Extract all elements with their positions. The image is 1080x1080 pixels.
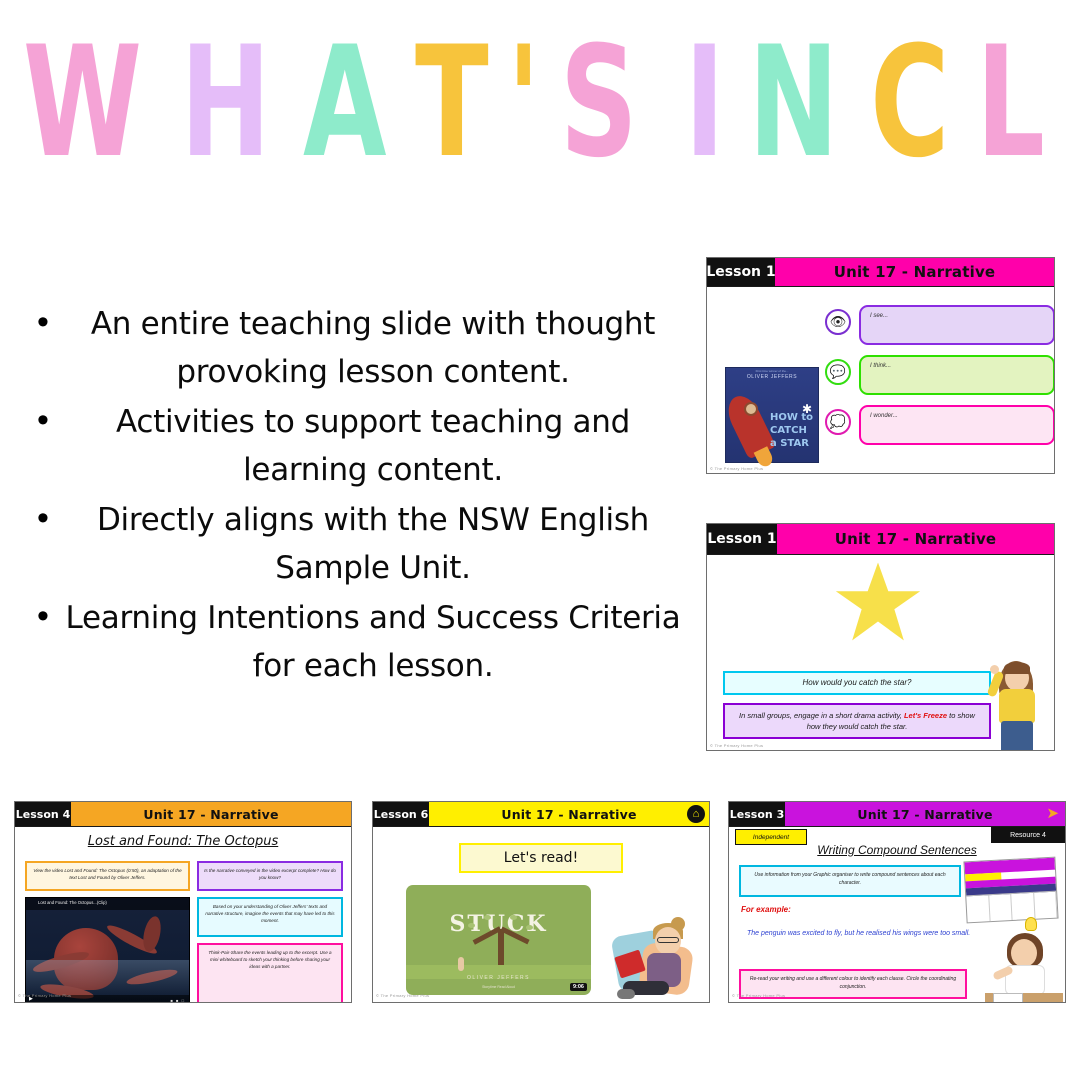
slide-subtitle: Lost and Found: The Octopus: [15, 834, 351, 849]
stuck-subtitle: Storytime Read Aloud: [406, 985, 591, 989]
think-bubble-icon: 💬: [825, 359, 851, 385]
title-letter-11: U: [1073, 27, 1080, 180]
title-letter-4: ': [508, 27, 540, 180]
watermark: © The Primary Home Plus: [18, 993, 71, 998]
question-bubble-icon: 💭: [825, 409, 851, 435]
video-thumbnail-octopus[interactable]: Lost and Found: The Octopus...(Clip) ▶ ■…: [25, 897, 190, 1003]
star-icon: [835, 563, 921, 645]
slide-preview-lesson4-lost-and-found[interactable]: Lesson 4 Unit 17 - Narrative Lost and Fo…: [14, 801, 352, 1003]
slide-header: Lesson 6 Unit 17 - Narrative ⌂: [373, 802, 709, 827]
lesson-tag: Lesson 4: [15, 802, 71, 826]
watermark: © The Primary Home Plus: [732, 993, 785, 998]
title-letter-8: N: [749, 27, 838, 180]
list-item-text: An entire teaching slide with thought pr…: [60, 300, 686, 396]
video-instruction-box[interactable]: View the video Lost and Found: The Octop…: [25, 861, 190, 891]
bullet-dot-icon: •: [26, 594, 60, 638]
list-item-text: Directly aligns with the NSW English Sam…: [60, 496, 686, 592]
avatar-teacher-reading: [611, 915, 697, 1003]
list-item: • Learning Intentions and Success Criter…: [26, 594, 686, 690]
bullet-dot-icon: •: [26, 300, 60, 344]
slide-header-title: Unit 17 - Narrative: [777, 524, 1054, 554]
discussion-box-1[interactable]: Is the narrative conveyed in the video e…: [197, 861, 343, 891]
eye-icon: 👁: [825, 309, 851, 335]
slide-body: First time winner of the... OLIVER JEFFE…: [707, 287, 1054, 473]
video-controls-icon[interactable]: ■ ■ □: [171, 998, 185, 1003]
bullet-dot-icon: •: [26, 496, 60, 540]
list-item-text: Learning Intentions and Success Criteria…: [60, 594, 686, 690]
slide-body: Lost and Found: The Octopus View the vid…: [15, 827, 351, 1000]
kangaroo-icon: ➤: [1046, 804, 1059, 822]
title-letter-3: T: [415, 27, 487, 180]
discussion-box-3[interactable]: Think-Pair-Share the events leading up t…: [197, 943, 343, 1003]
avatar-teacher-waving: [989, 655, 1045, 752]
book-title-line1: HOW to: [770, 412, 813, 423]
slide-header: Lesson 3 Unit 17 - Narrative ➤: [729, 802, 1065, 827]
book-publisher-line: First time winner of the...: [726, 369, 818, 373]
title-letter-0: W: [23, 27, 141, 180]
lets-read-box[interactable]: Let's read!: [459, 843, 623, 873]
title-letter-9: C: [870, 27, 948, 180]
features-list: • An entire teaching slide with thought …: [26, 300, 686, 692]
slide-body: Independent Resource 4 Writing Compound …: [729, 827, 1065, 1000]
prompt-box-i-think[interactable]: I think...: [859, 355, 1055, 395]
lesson-tag: Lesson 1: [707, 258, 775, 286]
discussion-box-2[interactable]: Based on your understanding of Oliver Je…: [197, 897, 343, 937]
avatar-student-writing: [985, 931, 1063, 1003]
lightbulb-icon: [1025, 917, 1037, 931]
watermark: © The Primary Home Plus: [710, 743, 763, 748]
example-label: For example:: [741, 905, 791, 914]
rocket-window-icon: [744, 402, 758, 416]
list-item: • An entire teaching slide with thought …: [26, 300, 686, 396]
book-title-line3: a STAR: [770, 438, 809, 449]
rocket-icon: [722, 391, 776, 460]
watermark: © The Primary Home Plus: [376, 993, 429, 998]
title-letter-7: I: [685, 27, 724, 180]
slide-header-title: Unit 17 - Narrative: [71, 802, 351, 826]
list-item: • Activities to support teaching and lea…: [26, 398, 686, 494]
drama-activity-box[interactable]: In small groups, engage in a short drama…: [723, 703, 991, 739]
bullet-dot-icon: •: [26, 398, 60, 442]
whats-included-page: WHAT'SINCLUDED • An entire teaching slid…: [0, 0, 1080, 1080]
slide-header: Lesson 4 Unit 17 - Narrative: [15, 802, 351, 827]
slide-header-title: Unit 17 - Narrative: [785, 802, 1065, 826]
lesson-tag: Lesson 3: [729, 802, 785, 826]
instruction-box[interactable]: Use information from your Graphic organi…: [739, 865, 961, 897]
slide-body: Let's read! STUCK OLIVER JEFFERS Storyti…: [373, 827, 709, 1000]
example-sentence: The penguin was excited to fly, but he r…: [747, 927, 977, 940]
slide-preview-lesson6-lets-read[interactable]: Lesson 6 Unit 17 - Narrative ⌂ Let's rea…: [372, 801, 710, 1003]
video-duration: 9:06: [570, 983, 587, 991]
boy-figure-icon: [458, 957, 464, 971]
slide-body: How would you catch the star? In small g…: [707, 555, 1054, 750]
lesson-tag: Lesson 1: [707, 524, 777, 554]
slide-header-title: Unit 17 - Narrative: [429, 802, 709, 826]
book-title-line2: CATCH: [770, 425, 807, 436]
question-box[interactable]: How would you catch the star?: [723, 671, 991, 695]
list-item-text: Activities to support teaching and learn…: [60, 398, 686, 494]
home-icon[interactable]: ⌂: [687, 805, 705, 823]
slide-preview-lesson1-catch-the-star[interactable]: Lesson 1 Unit 17 - Narrative How would y…: [706, 523, 1055, 751]
prompt-box-i-see[interactable]: I see...: [859, 305, 1055, 345]
title-letter-5: S: [560, 27, 636, 180]
slide-header: Lesson 1 Unit 17 - Narrative: [707, 258, 1054, 287]
lesson-tag: Lesson 6: [373, 802, 429, 826]
watermark: © The Primary Home Plus: [710, 466, 763, 471]
slide-header: Lesson 1 Unit 17 - Narrative: [707, 524, 1054, 555]
activity-highlight: Let's Freeze: [904, 711, 947, 720]
video-caption: Lost and Found: The Octopus...(Clip): [38, 900, 107, 905]
slide-preview-lesson3-compound-sentences[interactable]: Lesson 3 Unit 17 - Narrative ➤ Independe…: [728, 801, 1066, 1003]
list-item: • Directly aligns with the NSW English S…: [26, 496, 686, 592]
resource-thumbnail[interactable]: [963, 857, 1058, 924]
book-author: OLIVER JEFFERS: [726, 374, 818, 380]
video-thumbnail-stuck[interactable]: STUCK OLIVER JEFFERS Storytime Read Alou…: [406, 885, 591, 995]
resource-tag: Resource 4: [991, 827, 1065, 843]
book-cover-how-to-catch-a-star: First time winner of the... OLIVER JEFFE…: [725, 367, 819, 463]
page-title: WHAT'SINCLUDED: [0, 28, 1080, 178]
activity-text-pre: In small groups, engage in a short drama…: [739, 711, 904, 720]
slide-preview-lesson1-see-think-wonder[interactable]: Lesson 1 Unit 17 - Narrative First time …: [706, 257, 1055, 474]
slide-header-title: Unit 17 - Narrative: [775, 258, 1054, 286]
slide-subtitle: Writing Compound Sentences: [729, 843, 1065, 857]
title-letter-10: L: [976, 27, 1043, 180]
stuck-author: OLIVER JEFFERS: [406, 975, 591, 981]
title-letter-2: A: [303, 27, 385, 180]
title-letter-1: H: [181, 27, 270, 180]
prompt-box-i-wonder[interactable]: I wonder...: [859, 405, 1055, 445]
